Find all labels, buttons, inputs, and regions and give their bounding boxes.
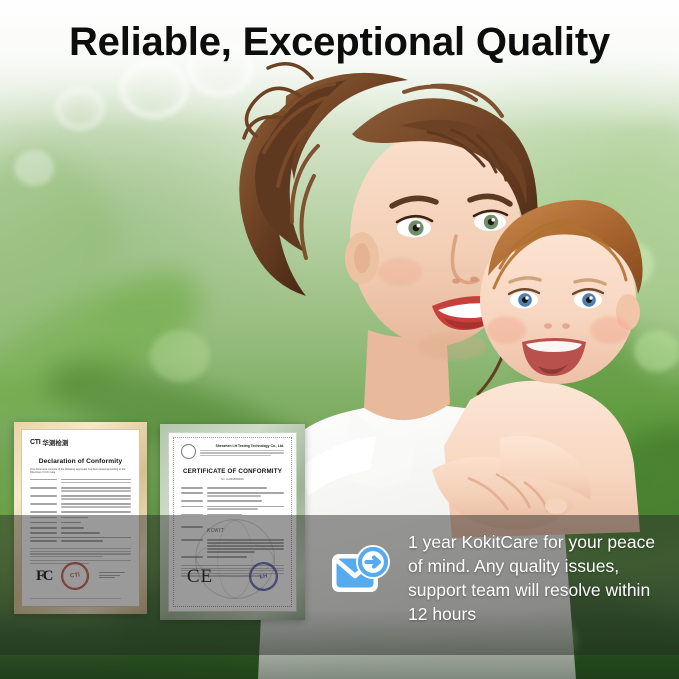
- certificate-field: [181, 492, 284, 498]
- promo-banner-image: Reliable, Exceptional Quality CTI 华测检测 D…: [0, 0, 679, 679]
- lab-seal-icon: [181, 444, 196, 459]
- certificate-subtitle: This document consists of the following …: [30, 468, 131, 475]
- certificate-field: [30, 487, 131, 493]
- certificate-field: [30, 479, 131, 485]
- cti-logo: CTI 华测检测: [30, 437, 131, 447]
- certificate-field: [30, 495, 131, 501]
- certificate-title: Declaration of Conformity: [30, 458, 131, 465]
- mail-send-icon: [328, 542, 394, 603]
- cti-logo-code: CTI: [30, 439, 40, 446]
- certificate-field: [30, 511, 131, 514]
- certificate-field: [181, 487, 284, 490]
- certificate-field: [181, 506, 284, 512]
- promo-row: 1 year KokitCare for your peace of mind.…: [328, 528, 668, 640]
- cti-logo-chinese: 华测检测: [42, 437, 68, 447]
- certificate-field: [181, 500, 284, 503]
- certificate-number: No. LH2018050003: [181, 478, 284, 481]
- certificate-field: [30, 503, 131, 509]
- promo-text: 1 year KokitCare for your peace of mind.…: [408, 528, 668, 626]
- issuing-organization: Shenzhen LH Testing Technology Co., Ltd.: [200, 444, 284, 448]
- certificate-title: CERTIFICATE OF CONFORMITY: [181, 468, 284, 475]
- certificate-header: Shenzhen LH Testing Technology Co., Ltd.: [181, 444, 284, 459]
- page-title: Reliable, Exceptional Quality: [0, 18, 679, 66]
